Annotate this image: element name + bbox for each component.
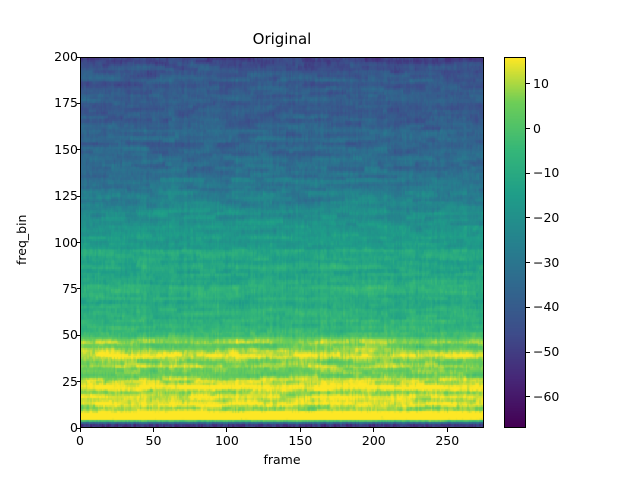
y-tick-label: 100 — [54, 236, 78, 249]
x-tick-label: 150 — [288, 434, 312, 447]
colorbar-tick-label: 10 — [533, 77, 549, 90]
y-tick-label: 175 — [54, 96, 78, 109]
matplotlib-figure: Original 0255075100125150175200 05010015… — [0, 0, 640, 480]
x-tick-mark — [300, 428, 301, 432]
x-tick-label: 50 — [146, 434, 162, 447]
y-tick-label: 50 — [62, 328, 78, 341]
x-tick-label: 0 — [76, 434, 84, 447]
colorbar-tick-mark — [526, 307, 530, 308]
colorbar-gradient — [505, 58, 525, 427]
y-axis-label: freq_bin — [15, 221, 29, 265]
x-axis-label: frame — [80, 453, 484, 467]
spectrogram-axes[interactable] — [80, 57, 484, 428]
x-tick-label: 250 — [435, 434, 459, 447]
y-tick-label: 125 — [54, 189, 78, 202]
colorbar-tick-mark — [526, 262, 530, 263]
colorbar-tick-label: −30 — [533, 256, 559, 269]
page-title: Original — [80, 30, 484, 48]
colorbar-tick-mark — [526, 83, 530, 84]
colorbar-tick-label: −20 — [533, 211, 559, 224]
colorbar-tick-label: −40 — [533, 300, 559, 313]
x-tick-mark — [373, 428, 374, 432]
y-tick-label: 200 — [54, 50, 78, 63]
colorbar-tick-mark — [526, 396, 530, 397]
x-tick-label: 200 — [362, 434, 386, 447]
x-tick-mark — [447, 428, 448, 432]
y-tick-label: 75 — [62, 282, 78, 295]
colorbar[interactable] — [504, 57, 526, 428]
colorbar-tick-mark — [526, 352, 530, 353]
x-tick-mark — [80, 428, 81, 432]
x-tick-label: 100 — [215, 434, 239, 447]
y-tick-label: 25 — [62, 375, 78, 388]
colorbar-tick-label: −50 — [533, 345, 559, 358]
colorbar-tick-mark — [526, 128, 530, 129]
x-tick-mark — [226, 428, 227, 432]
colorbar-tick-label: −10 — [533, 166, 559, 179]
colorbar-tick-mark — [526, 217, 530, 218]
y-tick-label: 150 — [54, 143, 78, 156]
colorbar-tick-mark — [526, 173, 530, 174]
colorbar-tick-label: −60 — [533, 390, 559, 403]
colorbar-tick-label: 0 — [533, 122, 541, 135]
spectrogram-heatmap-image — [81, 58, 483, 427]
x-tick-mark — [153, 428, 154, 432]
